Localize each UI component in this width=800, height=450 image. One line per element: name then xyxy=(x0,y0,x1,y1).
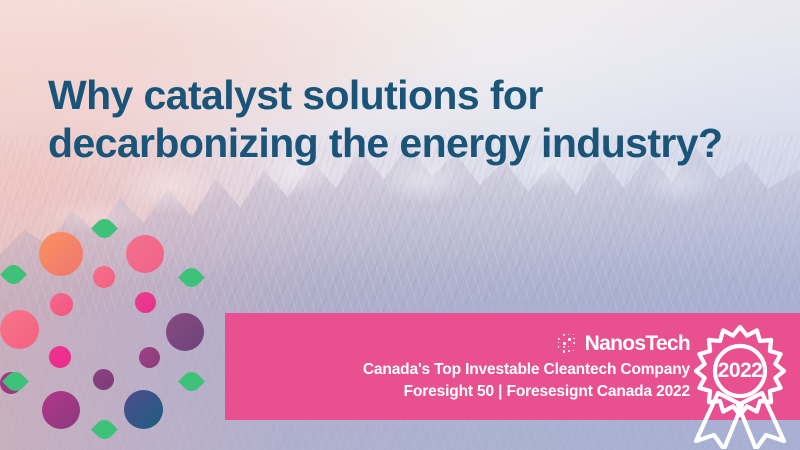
decorative-leaf-icon xyxy=(178,368,205,395)
logo-dot xyxy=(568,338,571,341)
logo-dot xyxy=(573,342,575,344)
decorative-circle xyxy=(49,346,71,368)
decorative-leaf-icon xyxy=(0,261,27,288)
decorative-circle xyxy=(0,310,39,349)
decorative-leaf-icon xyxy=(178,264,205,291)
decorative-circle xyxy=(126,235,164,273)
dot-grid-icon xyxy=(557,333,578,354)
brand-name: NanosTech xyxy=(585,333,690,354)
logo-dot xyxy=(558,346,560,348)
decorative-circle xyxy=(93,266,115,288)
decorative-circle xyxy=(124,390,163,429)
nanostech-logo: NanosTech xyxy=(557,333,690,354)
logo-dot xyxy=(573,350,574,351)
award-banner: NanosTech Canada's Top Investable Cleant… xyxy=(225,313,800,420)
logo-dot xyxy=(563,334,565,336)
decorative-circle xyxy=(166,313,204,351)
logo-dot xyxy=(563,350,566,353)
decorative-circle xyxy=(42,391,80,429)
logo-dot xyxy=(568,350,570,352)
award-line-1: Canada's Top Investable Cleantech Compan… xyxy=(363,359,690,381)
logo-dot xyxy=(558,338,560,340)
award-line-2: Foresight 50 | Foresesignt Canada 2022 xyxy=(404,381,690,403)
decorative-circle xyxy=(139,347,160,368)
logo-dot xyxy=(568,334,569,335)
logo-dot xyxy=(573,338,575,340)
slide-canvas: Why catalyst solutions for decarbonizing… xyxy=(0,0,800,450)
logo-dot xyxy=(568,346,569,347)
logo-dot xyxy=(558,342,559,343)
decorative-circle xyxy=(135,292,156,313)
award-banner-content: NanosTech Canada's Top Investable Cleant… xyxy=(363,313,690,420)
decorative-leaf-icon xyxy=(91,215,118,242)
badge-year-label: 2022 xyxy=(688,359,792,383)
decorative-dot-cluster xyxy=(0,0,240,450)
award-rosette-icon: 2022 xyxy=(688,319,792,449)
logo-dot xyxy=(563,342,566,345)
logo-dot xyxy=(563,346,565,348)
decorative-circle xyxy=(50,293,73,316)
decorative-leaf-icon xyxy=(91,416,118,443)
logo-dot xyxy=(573,334,574,335)
decorative-circle xyxy=(39,232,83,276)
decorative-circle xyxy=(93,369,114,390)
